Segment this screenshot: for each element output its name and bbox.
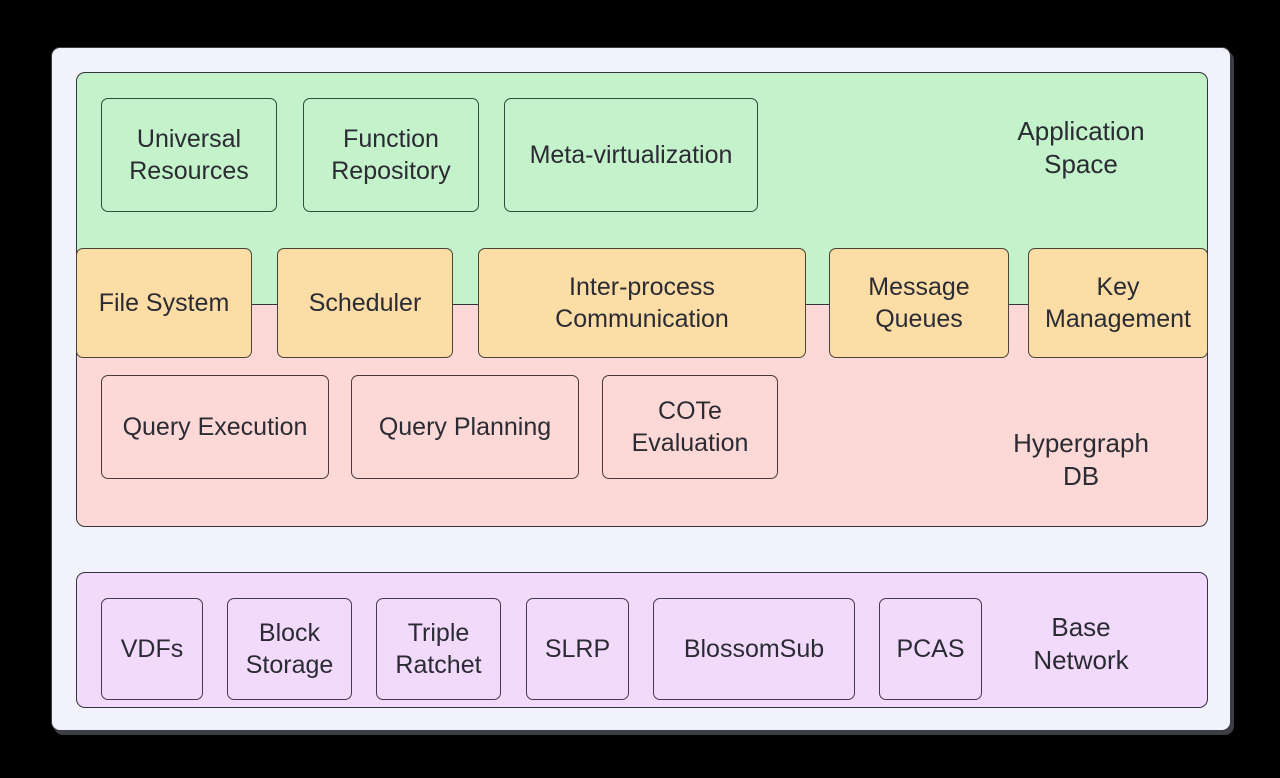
node-blossomsub[interactable]: BlossomSub bbox=[653, 598, 855, 700]
node-slrp[interactable]: SLRP bbox=[526, 598, 629, 700]
layer-label-base-network: Base Network bbox=[981, 611, 1181, 678]
layer-panel-base-network[interactable]: Base Network VDFs Block Storage Triple R… bbox=[76, 572, 1208, 708]
node-key-management[interactable]: Key Management bbox=[1028, 248, 1208, 358]
layer-panel-middleware: File System Scheduler Inter-process Comm… bbox=[76, 248, 1208, 358]
node-message-queues[interactable]: Message Queues bbox=[829, 248, 1009, 358]
node-pcas[interactable]: PCAS bbox=[879, 598, 982, 700]
node-inter-process-communication[interactable]: Inter-process Communication bbox=[478, 248, 806, 358]
layer-stack: Application Space Universal Resources Fu… bbox=[76, 72, 1208, 708]
node-function-repository[interactable]: Function Repository bbox=[303, 98, 479, 212]
node-scheduler[interactable]: Scheduler bbox=[277, 248, 453, 358]
node-vdfs[interactable]: VDFs bbox=[101, 598, 203, 700]
compound-panel-group: Application Space Universal Resources Fu… bbox=[76, 72, 1208, 527]
node-universal-resources[interactable]: Universal Resources bbox=[101, 98, 277, 212]
node-query-execution[interactable]: Query Execution bbox=[101, 375, 329, 479]
node-block-storage[interactable]: Block Storage bbox=[227, 598, 352, 700]
diagram-outer-frame: Application Space Universal Resources Fu… bbox=[51, 47, 1231, 731]
node-cote-evaluation[interactable]: COTe Evaluation bbox=[602, 375, 778, 479]
diagram-canvas: Application Space Universal Resources Fu… bbox=[0, 0, 1280, 778]
node-triple-ratchet[interactable]: Triple Ratchet bbox=[376, 598, 501, 700]
layer-label-application-space: Application Space bbox=[981, 115, 1181, 182]
node-meta-virtualization[interactable]: Meta-virtualization bbox=[504, 98, 758, 212]
node-file-system[interactable]: File System bbox=[76, 248, 252, 358]
node-query-planning[interactable]: Query Planning bbox=[351, 375, 579, 479]
layer-label-hypergraph-db: Hypergraph DB bbox=[981, 427, 1181, 494]
